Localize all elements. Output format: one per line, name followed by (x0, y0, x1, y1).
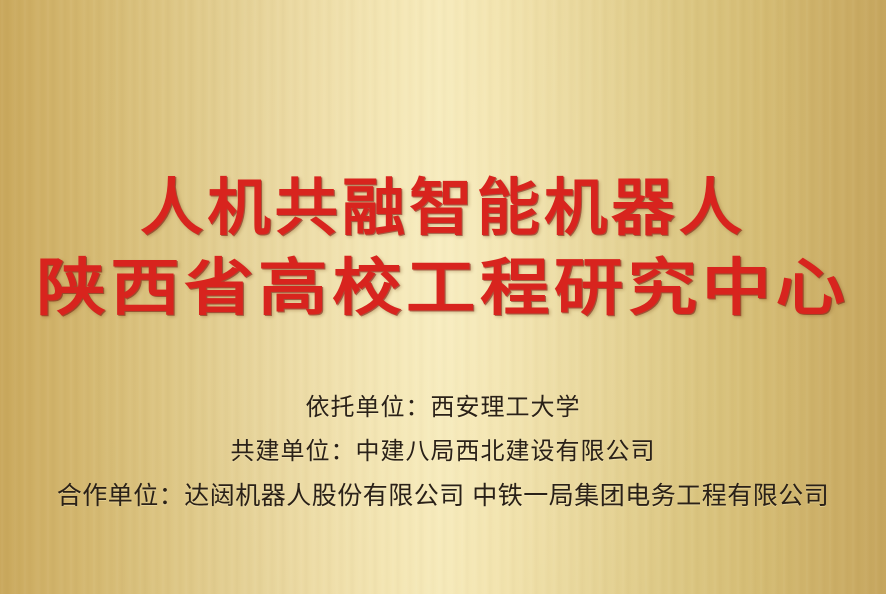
title-block: 人机共融智能机器人 陕西省高校工程研究中心 (0, 172, 886, 324)
partner-institutions-line: 合作单位：达闼机器人股份有限公司 中铁一局集团电务工程有限公司 (0, 474, 886, 518)
title-line-2: 陕西省高校工程研究中心 (0, 252, 886, 324)
supporting-institution-line: 依托单位：西安理工大学 (0, 386, 886, 430)
co-building-institution-line: 共建单位：中建八局西北建设有限公司 (0, 430, 886, 474)
affiliation-block: 依托单位：西安理工大学 共建单位：中建八局西北建设有限公司 合作单位：达闼机器人… (0, 386, 886, 518)
plaque-sign: 人机共融智能机器人 陕西省高校工程研究中心 依托单位：西安理工大学 共建单位：中… (0, 0, 886, 594)
title-line-1: 人机共融智能机器人 (0, 172, 886, 244)
plaque-content: 人机共融智能机器人 陕西省高校工程研究中心 依托单位：西安理工大学 共建单位：中… (0, 0, 886, 594)
